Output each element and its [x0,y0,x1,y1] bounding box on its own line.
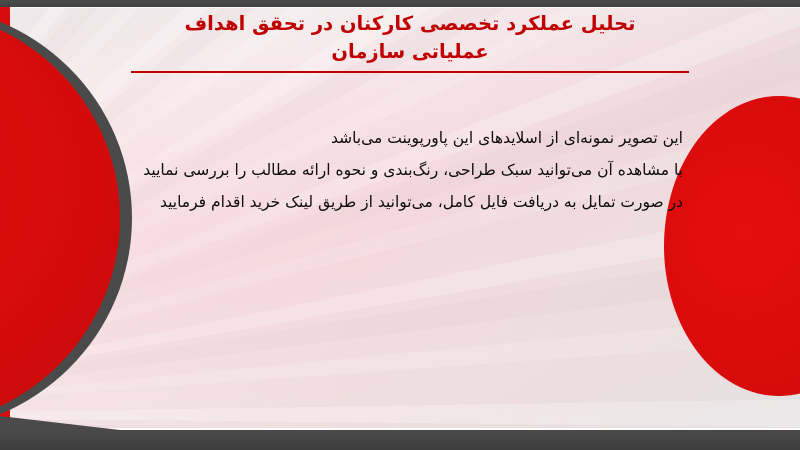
slide-title: تحلیل عملکرد تخصصی کارکنان در تحقق اهداف… [130,10,690,66]
slide-body-line-2: با مشاهده آن می‌توانید سبک طراحی، رنگ‌بن… [123,154,683,186]
slide-title-line-2: عملیاتی سازمان [130,38,690,66]
slide-body-line-1: این تصویر نمونه‌ای از اسلایدهای این پاور… [123,122,683,154]
slide-body-line-3: در صورت تمایل به دریافت فایل کامل، می‌تو… [123,186,683,218]
bottom-bar-decoration [0,430,800,450]
slide-body-text: این تصویر نمونه‌ای از اسلایدهای این پاور… [123,122,683,218]
slide-title-line-1: تحلیل عملکرد تخصصی کارکنان در تحقق اهداف [130,10,690,38]
presentation-slide: تحلیل عملکرد تخصصی کارکنان در تحقق اهداف… [0,0,800,450]
title-underline-rule [131,71,689,73]
top-bar-decoration [0,0,800,7]
